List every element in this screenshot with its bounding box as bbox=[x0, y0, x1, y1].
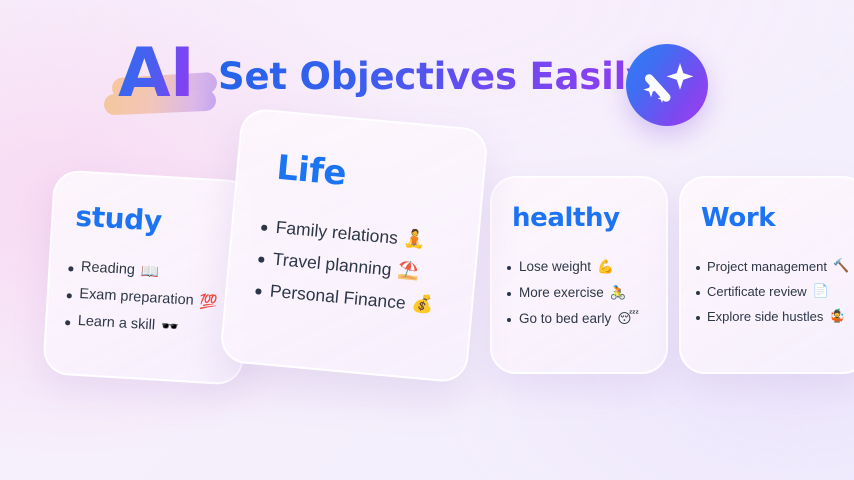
card-title-life: Life bbox=[275, 151, 483, 204]
objective-list-study: Reading 📖 Exam preparation 💯 Learn a ski… bbox=[65, 258, 247, 339]
bullet-icon bbox=[261, 225, 267, 231]
list-item-label: Reading bbox=[81, 259, 136, 278]
bullet-icon bbox=[696, 316, 700, 320]
list-item[interactable]: Reading 📖 bbox=[68, 258, 247, 286]
bullet-icon bbox=[67, 293, 72, 298]
open-book-emoji: 📖 bbox=[140, 263, 159, 281]
list-item[interactable]: Project management 🔨 bbox=[696, 259, 854, 274]
list-item-label: Lose weight bbox=[519, 259, 591, 274]
list-item[interactable]: Explore side hustles 🤹 bbox=[696, 309, 854, 324]
list-item[interactable]: Go to bed early 😴 bbox=[507, 311, 666, 327]
beach-umbrella-emoji: ⛱️ bbox=[397, 260, 421, 282]
objective-card-work[interactable]: Work Project management 🔨 Certificate re… bbox=[679, 176, 854, 374]
bullet-icon bbox=[696, 291, 700, 295]
list-item[interactable]: Certificate review 📄 bbox=[696, 284, 854, 299]
bullet-icon bbox=[696, 266, 700, 270]
card-title-work: Work bbox=[701, 205, 854, 231]
person-meditating-emoji: 🧘 bbox=[403, 229, 427, 251]
juggling-emoji: 🤹 bbox=[829, 309, 845, 324]
hammer-emoji: 🔨 bbox=[833, 259, 849, 274]
objective-list-life: Family relations 🧘 Travel planning ⛱️ Pe… bbox=[255, 216, 478, 320]
money-bag-emoji: 💰 bbox=[411, 294, 435, 316]
objective-list-work: Project management 🔨 Certificate review … bbox=[696, 259, 854, 324]
list-item[interactable]: More exercise 🚴 bbox=[507, 285, 666, 301]
objective-card-healthy[interactable]: healthy Lose weight 💪 More exercise 🚴 Go… bbox=[490, 176, 668, 374]
magic-wand-icon bbox=[626, 44, 708, 126]
objective-card-life[interactable]: Life Family relations 🧘 Travel planning … bbox=[219, 107, 489, 383]
poster-canvas: AI Set Objectives Easily study Reading 📖 bbox=[0, 0, 854, 480]
ai-logotype: AI bbox=[118, 44, 233, 116]
list-item-label: Project management bbox=[707, 259, 827, 274]
bullet-icon bbox=[507, 292, 511, 296]
list-item-label: Go to bed early bbox=[519, 311, 611, 326]
bullet-icon bbox=[255, 288, 261, 294]
bullet-icon bbox=[507, 266, 511, 270]
list-item-label: Travel planning bbox=[272, 249, 392, 281]
card-title-study: study bbox=[75, 203, 250, 241]
ai-label: AI bbox=[118, 40, 194, 108]
objective-list-healthy: Lose weight 💪 More exercise 🚴 Go to bed … bbox=[507, 259, 666, 327]
list-item[interactable]: Personal Finance 💰 bbox=[255, 279, 472, 319]
flexed-biceps-emoji: 💪 bbox=[597, 259, 614, 275]
bullet-icon bbox=[65, 320, 70, 325]
page-emoji: 📄 bbox=[813, 284, 829, 299]
list-item-label: Explore side hustles bbox=[707, 309, 823, 324]
bullet-icon bbox=[258, 256, 264, 262]
person-biking-emoji: 🚴 bbox=[610, 285, 627, 301]
hundred-points-emoji: 💯 bbox=[199, 293, 218, 311]
list-item[interactable]: Exam preparation 💯 bbox=[66, 285, 245, 313]
list-item-label: Exam preparation bbox=[79, 286, 194, 309]
list-item-label: More exercise bbox=[519, 285, 604, 300]
list-item[interactable]: Lose weight 💪 bbox=[507, 259, 666, 275]
sunglasses-emoji: 🕶️ bbox=[160, 318, 179, 336]
list-item-label: Personal Finance bbox=[269, 281, 407, 314]
bullet-icon bbox=[68, 266, 73, 271]
page-title: Set Objectives Easily bbox=[218, 57, 650, 98]
list-item-label: Certificate review bbox=[707, 284, 807, 299]
list-item[interactable]: Learn a skill 🕶️ bbox=[65, 312, 244, 340]
sleeping-face-emoji: 😴 bbox=[617, 311, 639, 327]
bullet-icon bbox=[507, 318, 511, 322]
objective-card-study[interactable]: study Reading 📖 Exam preparation 💯 Learn… bbox=[42, 169, 254, 386]
list-item-label: Family relations bbox=[275, 217, 399, 249]
list-item-label: Learn a skill bbox=[77, 313, 155, 334]
magic-wand-badge[interactable] bbox=[626, 44, 708, 126]
card-title-healthy: healthy bbox=[512, 205, 666, 231]
